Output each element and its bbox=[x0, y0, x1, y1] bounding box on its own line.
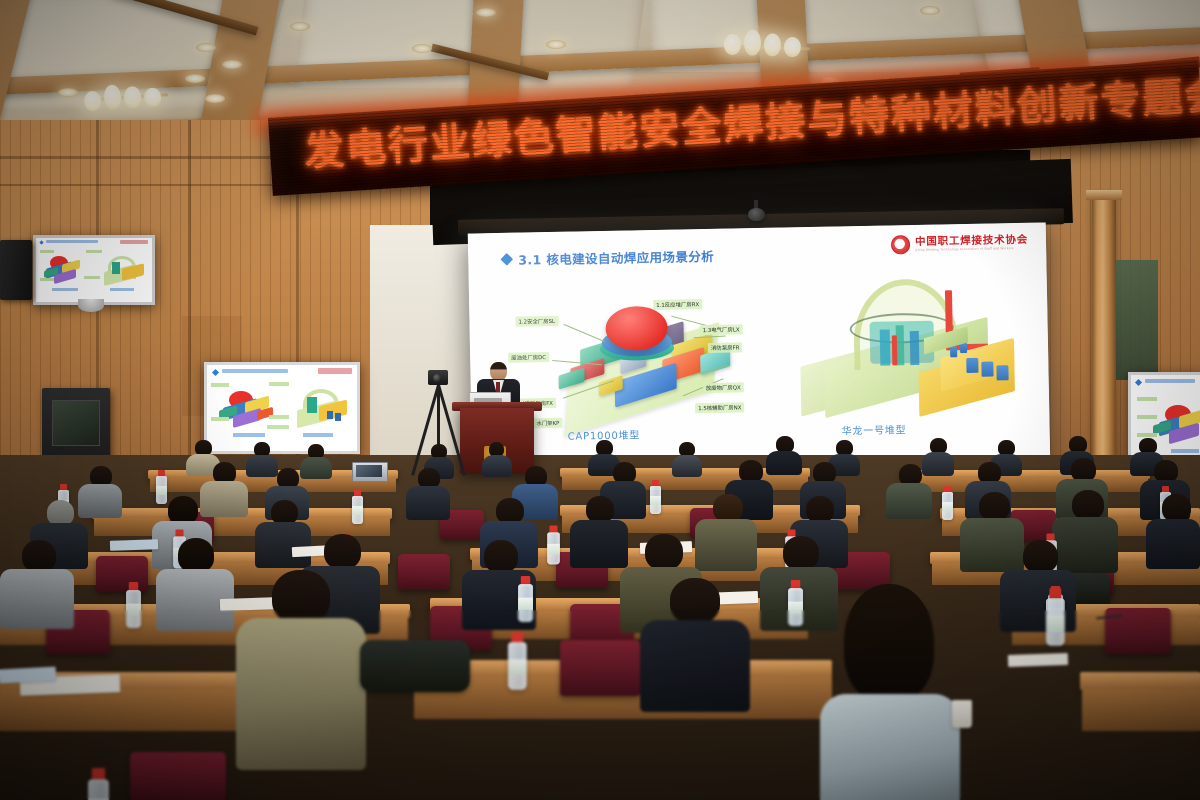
diagram-label: 1.1反应堆厂房RX bbox=[653, 299, 702, 310]
water-bottle bbox=[942, 486, 953, 520]
association-name-en: China Welding Technology Association of … bbox=[915, 247, 1028, 252]
diagram-label: 1.3电气厂房LX bbox=[700, 324, 743, 335]
audience-member bbox=[156, 538, 234, 628]
audience-laptop-screen bbox=[356, 465, 382, 477]
paper-cup bbox=[952, 700, 972, 728]
audience-member bbox=[406, 468, 450, 518]
blue-diamond-icon bbox=[500, 253, 513, 266]
paper-handout bbox=[1008, 653, 1068, 667]
water-bottle bbox=[508, 632, 527, 690]
wall-column bbox=[1092, 196, 1116, 466]
diagram-caption-hualong: 华龙一号堆型 bbox=[841, 421, 906, 437]
blue-diamond-icon bbox=[1135, 379, 1142, 386]
diagram-cap1000: 1.2安全厂房SL 废油处厂房DC 1.4燃料厂房FX 水门架KP 1.1反应堆… bbox=[521, 290, 774, 435]
chandelier-cluster bbox=[83, 81, 162, 111]
slide-title-text: 3.1 核电建设自动焊应用场景分析 bbox=[518, 246, 714, 269]
desk-row-e bbox=[1080, 672, 1200, 690]
column-capital bbox=[1086, 190, 1122, 200]
notebook bbox=[0, 667, 56, 684]
association-logo: 中国职工焊接技术协会 China Welding Technology Asso… bbox=[891, 233, 1028, 255]
diagram-hualong-one bbox=[799, 273, 1017, 427]
audience-member bbox=[695, 494, 757, 568]
audience-member bbox=[640, 578, 750, 708]
wall-mounted-tv[interactable] bbox=[33, 235, 155, 305]
ptz-camera-icon bbox=[748, 208, 765, 221]
water-bottle bbox=[788, 580, 803, 626]
audience-member bbox=[672, 442, 702, 474]
water-bottle bbox=[1046, 588, 1065, 646]
coat-on-chair bbox=[360, 640, 470, 692]
water-bottle bbox=[352, 490, 363, 524]
floor-stand-monitor-left[interactable] bbox=[204, 362, 360, 454]
audience-member bbox=[1146, 494, 1200, 568]
ceiling-downlight bbox=[222, 60, 242, 69]
conference-hall-photo: 发电行业绿色智能安全焊接与特种材料创新专题会 3.1 核电建设自动焊应用场景分析… bbox=[0, 0, 1200, 800]
association-name-cn: 中国职工焊接技术协会 bbox=[915, 234, 1028, 247]
camera-lens-icon bbox=[433, 374, 441, 382]
ceiling-downlight bbox=[58, 88, 78, 97]
water-bottle bbox=[88, 768, 109, 800]
ceiling-downlight bbox=[920, 6, 940, 15]
slide-title-row: 3.1 核电建设自动焊应用场景分析 bbox=[502, 246, 714, 269]
chair bbox=[560, 640, 640, 696]
chandelier-cluster bbox=[724, 29, 802, 58]
water-bottle bbox=[650, 480, 661, 514]
water-bottle bbox=[518, 576, 533, 622]
audience-member bbox=[820, 584, 960, 800]
blue-diamond-icon bbox=[39, 240, 43, 244]
audience-member bbox=[0, 540, 74, 626]
audience-member bbox=[886, 464, 932, 518]
ceiling-downlight bbox=[205, 94, 225, 103]
diagram-label: 消防泵房FR bbox=[708, 342, 743, 353]
diagram-label: 放废物厂房QX bbox=[703, 382, 744, 393]
tv-logo-bar bbox=[120, 240, 148, 244]
audience-member bbox=[482, 442, 512, 474]
ceiling-downlight bbox=[290, 22, 310, 31]
water-bottle bbox=[547, 525, 560, 564]
diagram-label: 水门架KP bbox=[533, 418, 562, 429]
notebook bbox=[110, 539, 158, 551]
tv-wall-mount bbox=[78, 299, 104, 312]
blue-diamond-icon bbox=[212, 369, 219, 376]
ceiling-downlight bbox=[546, 40, 566, 49]
water-bottle bbox=[126, 582, 141, 628]
diagram-label: 1.5核辅助厂房NX bbox=[695, 402, 744, 413]
ceiling-downlight bbox=[412, 44, 432, 53]
ceiling-downlight bbox=[476, 8, 496, 17]
presentation-slide: 3.1 核电建设自动焊应用场景分析 中国职工焊接技术协会 China Weldi… bbox=[468, 222, 1050, 471]
tv-slide-title-bar bbox=[46, 240, 98, 243]
chair bbox=[398, 554, 450, 590]
audience-member bbox=[236, 570, 366, 766]
diagram-label: 1.2安全厂房SL bbox=[515, 316, 558, 327]
ceiling-downlight bbox=[196, 43, 216, 52]
ceiling-downlight bbox=[185, 74, 205, 83]
wall-speaker bbox=[0, 240, 32, 300]
main-projection-screen[interactable]: 3.1 核电建设自动焊应用场景分析 中国职工焊接技术协会 China Weldi… bbox=[468, 222, 1050, 471]
window-panel bbox=[1116, 260, 1158, 380]
chair bbox=[130, 752, 226, 800]
equipment-cabinet-screen bbox=[52, 400, 100, 446]
association-seal-icon bbox=[891, 235, 910, 254]
